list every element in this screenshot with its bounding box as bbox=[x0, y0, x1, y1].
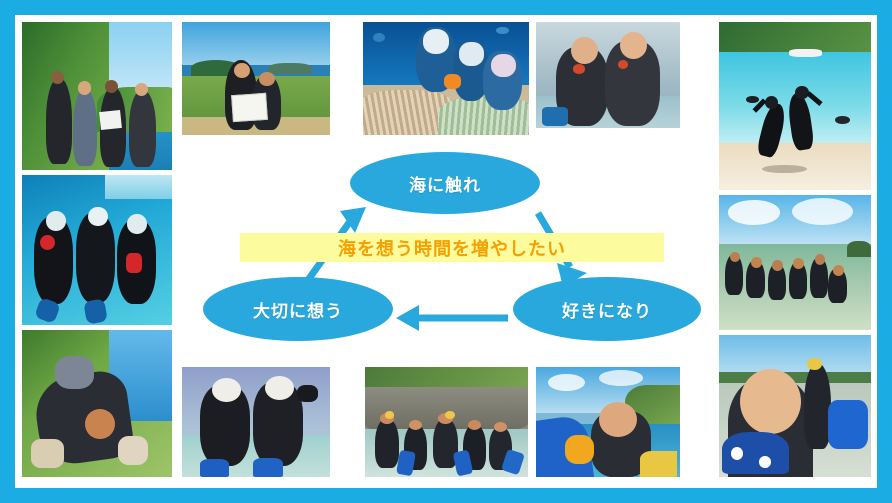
photo-left-2 bbox=[22, 175, 172, 325]
photo-bottom-2 bbox=[365, 367, 528, 477]
photo-left-1 bbox=[22, 22, 172, 170]
photo-bottom-3 bbox=[536, 367, 680, 477]
arrow-left-to-top bbox=[303, 207, 366, 287]
poster-canvas: 海に触れ 大切に想う 好きになり 海を想う時間を増やしたい bbox=[15, 15, 877, 488]
photo-top-3 bbox=[536, 22, 680, 128]
diagram-banner-text: 海を想う時間を増やしたい bbox=[338, 235, 566, 261]
arrow-right-to-left bbox=[396, 305, 508, 331]
poster-page: 海に触れ 大切に想う 好きになり 海を想う時間を増やしたい bbox=[0, 0, 892, 503]
node-left-label: 大切に想う bbox=[253, 297, 343, 322]
diagram-banner: 海を想う時間を増やしたい bbox=[240, 233, 664, 262]
node-top-label: 海に触れ bbox=[409, 171, 481, 196]
arrow-top-to-right bbox=[538, 213, 587, 287]
photo-right-2 bbox=[719, 195, 871, 330]
node-left[interactable]: 大切に想う bbox=[203, 277, 393, 341]
node-top[interactable]: 海に触れ bbox=[350, 152, 540, 214]
photo-right-1 bbox=[719, 22, 871, 190]
photo-top-2 bbox=[363, 22, 529, 135]
node-right-label: 好きになり bbox=[562, 297, 652, 322]
photo-right-3 bbox=[719, 335, 871, 477]
node-right[interactable]: 好きになり bbox=[513, 277, 701, 341]
photo-top-1 bbox=[182, 22, 330, 135]
photo-bottom-1 bbox=[182, 367, 330, 477]
photo-left-3 bbox=[22, 330, 172, 477]
